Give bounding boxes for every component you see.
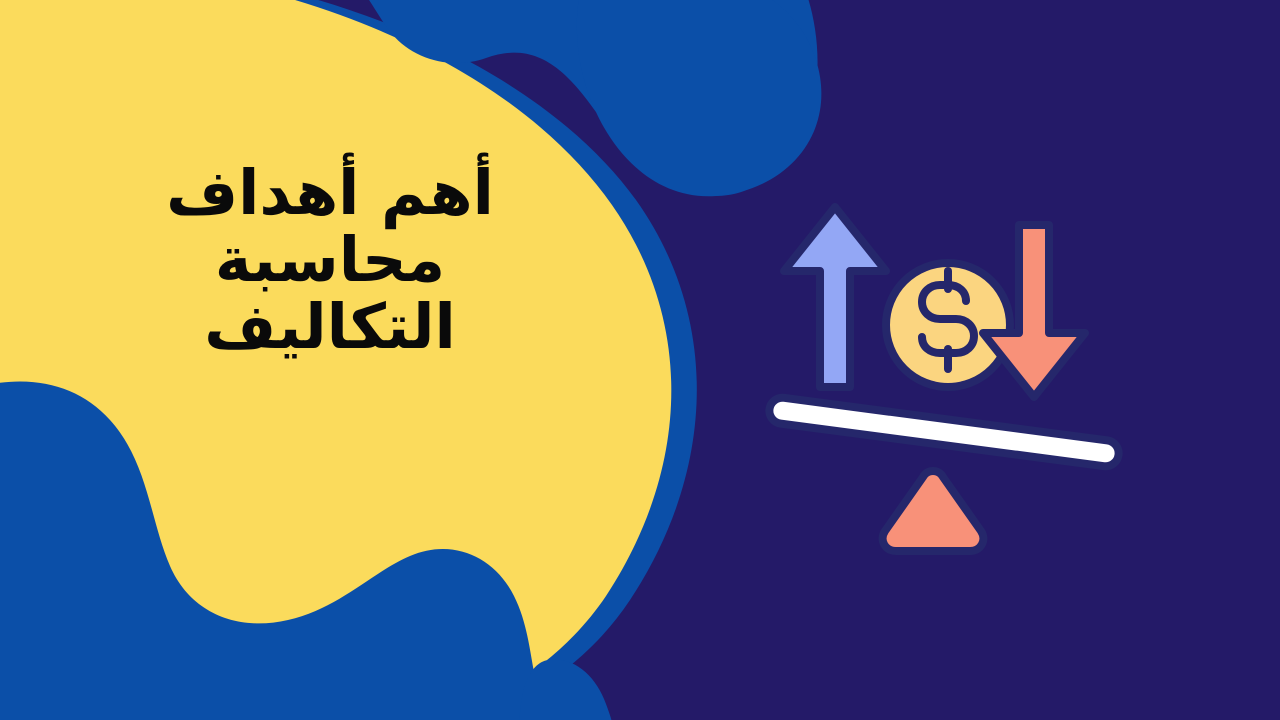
cost-balance-illustration — [760, 175, 1140, 555]
cost-balance-illustration-svg — [760, 175, 1140, 555]
dollar-coin-icon — [886, 263, 1010, 387]
title-line-3: التكاليف — [60, 294, 600, 361]
arrow-up-icon — [784, 207, 886, 387]
fulcrum-triangle — [883, 471, 984, 551]
title-line-1: أهم أهداف — [60, 160, 600, 227]
slide-canvas: أهم أهداف محاسبة التكاليف — [0, 0, 1280, 720]
balance-beam — [768, 396, 1120, 468]
title-line-2: محاسبة — [60, 227, 600, 294]
page-title: أهم أهداف محاسبة التكاليف — [60, 160, 600, 361]
